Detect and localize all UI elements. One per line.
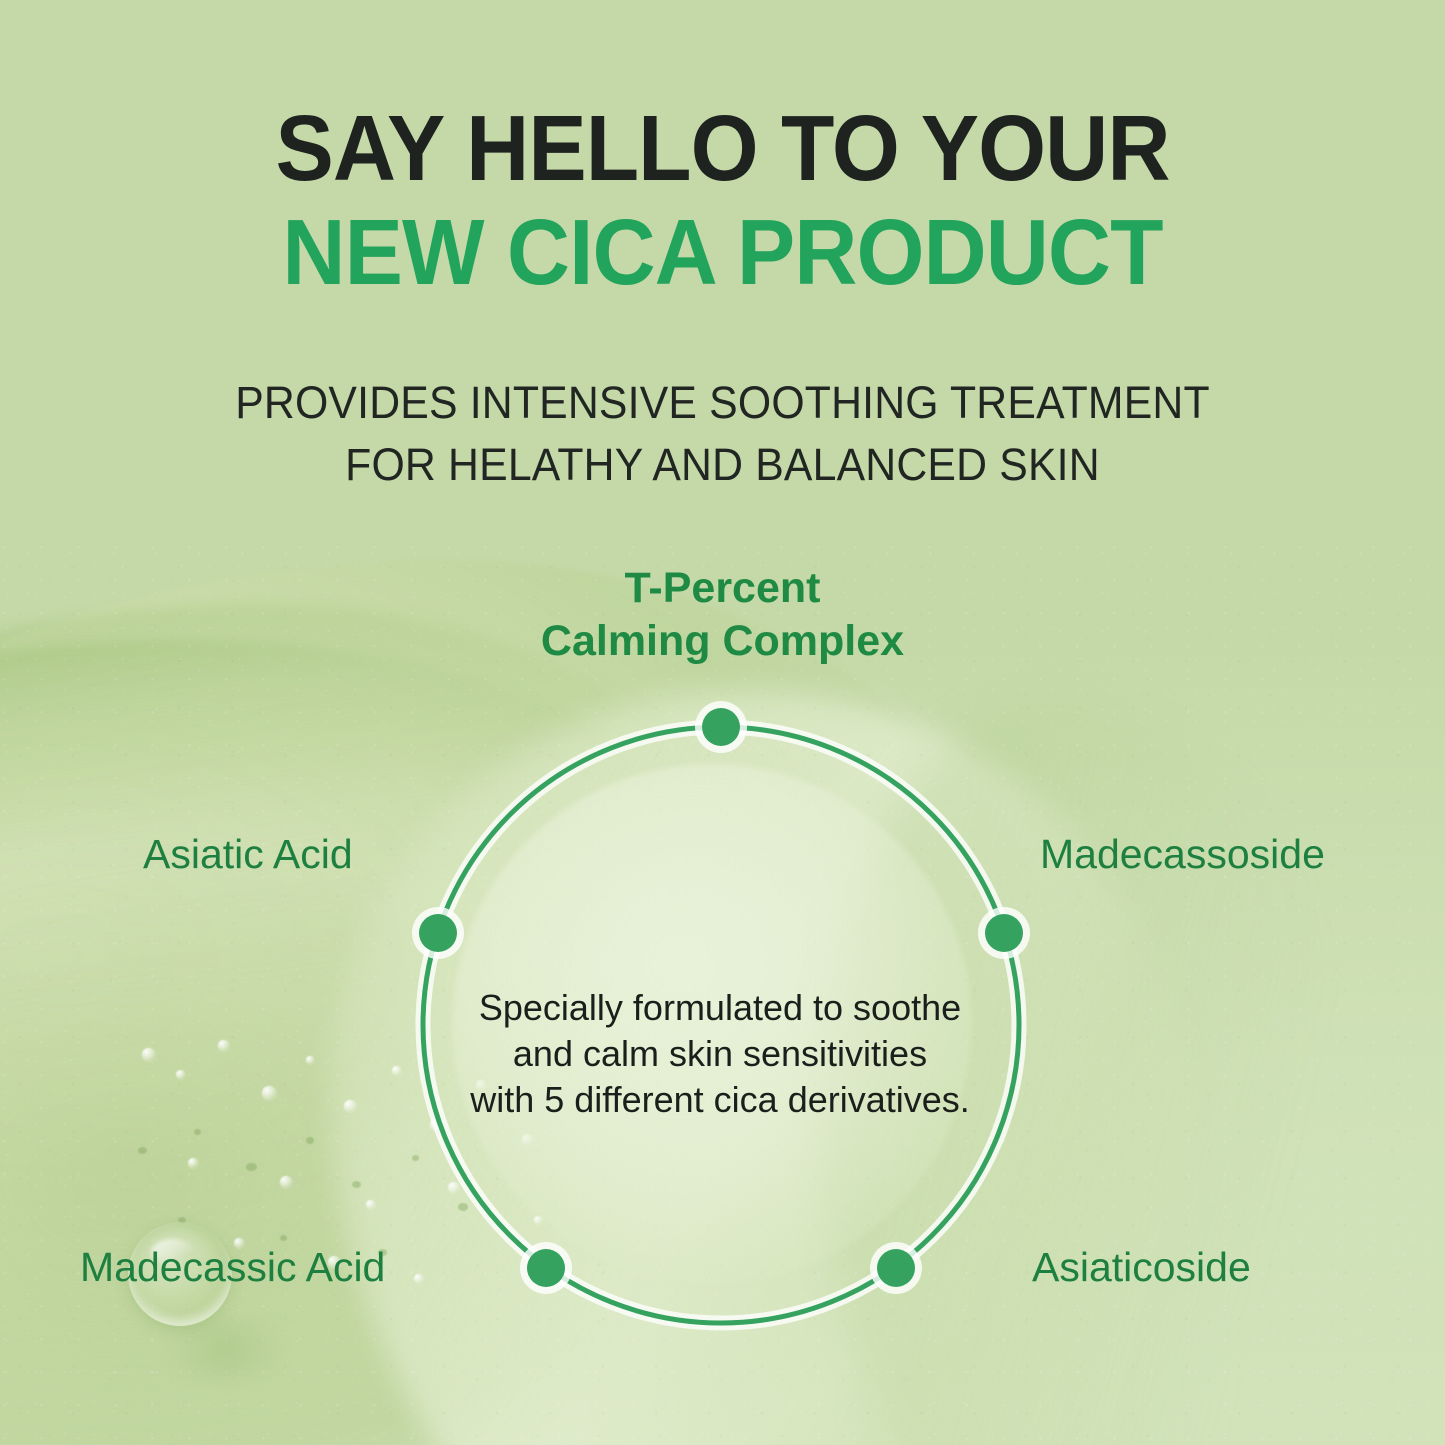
center-line-2: and calm skin sensitivities xyxy=(440,1031,1000,1077)
ingredient-label-madecassoside[interactable]: Madecassoside xyxy=(1040,830,1325,878)
center-line-3: with 5 different cica derivatives. xyxy=(440,1077,1000,1123)
ingredient-ring-diagram: Asiatic Acid Madecassoside Madecassic Ac… xyxy=(0,0,1445,1445)
node-dot-asiatic-acid[interactable] xyxy=(419,914,457,952)
ingredient-label-asiaticoside[interactable]: Asiaticoside xyxy=(1032,1243,1251,1291)
ring-graphic xyxy=(0,0,1445,1445)
node-dot-t-percent-calming-complex[interactable] xyxy=(702,708,740,746)
ingredient-label-asiatic-acid[interactable]: Asiatic Acid xyxy=(143,830,353,878)
node-dot-madecassic-acid[interactable] xyxy=(527,1249,565,1287)
node-dot-asiaticoside[interactable] xyxy=(877,1249,915,1287)
node-dot-madecassoside[interactable] xyxy=(985,914,1023,952)
poster-canvas: SAY HELLO TO YOUR NEW CICA PRODUCT PROVI… xyxy=(0,0,1445,1445)
ingredient-label-madecassic-acid[interactable]: Madecassic Acid xyxy=(80,1243,385,1291)
center-description: Specially formulated to soothe and calm … xyxy=(440,985,1000,1123)
center-line-1: Specially formulated to soothe xyxy=(440,985,1000,1031)
